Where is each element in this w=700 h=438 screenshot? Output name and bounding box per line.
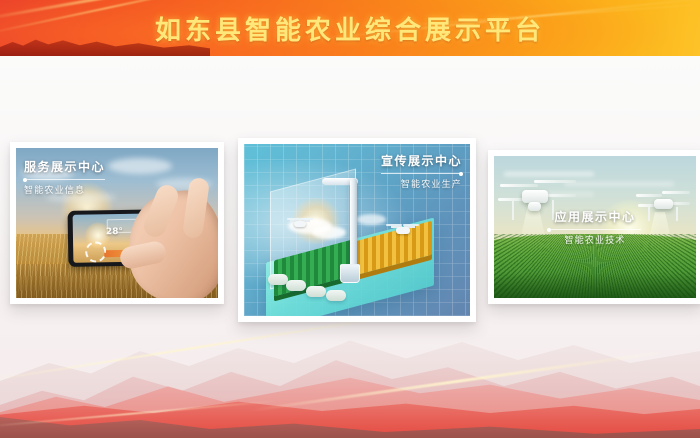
cloud bbox=[312, 226, 346, 239]
drone bbox=[286, 216, 314, 228]
application-card-subtitle: 智能农业技术 bbox=[494, 233, 696, 246]
drone-body bbox=[396, 227, 410, 234]
service-center-card[interactable]: 28° 服务展示中心 智能农业信息 bbox=[10, 142, 224, 304]
water-bucket bbox=[340, 264, 360, 283]
temperature-readout: 28° bbox=[106, 227, 123, 237]
drone-rotor bbox=[534, 180, 576, 183]
promotion-card-caption: 宣传展示中心 智能农业生产 bbox=[381, 152, 462, 190]
application-center-card[interactable]: 应用展示中心 智能农业技术 bbox=[488, 150, 700, 304]
application-card-caption: 应用展示中心 智能农业技术 bbox=[494, 208, 696, 246]
caption-divider bbox=[24, 179, 105, 180]
drone-rotor bbox=[662, 191, 690, 194]
hay-roll bbox=[306, 286, 326, 297]
crop-field-foreground bbox=[494, 272, 696, 298]
promotion-card-title: 宣传展示中心 bbox=[381, 152, 462, 169]
service-card-image: 28° 服务展示中心 智能农业信息 bbox=[16, 148, 218, 298]
cloud-streak bbox=[564, 182, 674, 186]
promotion-card-subtitle: 智能农业生产 bbox=[381, 177, 462, 190]
promotion-center-card[interactable]: 宣传展示中心 智能农业生产 bbox=[238, 138, 476, 322]
application-card-title: 应用展示中心 bbox=[494, 208, 696, 225]
caption-divider bbox=[381, 173, 462, 174]
cloud bbox=[356, 214, 386, 225]
hay-roll bbox=[286, 280, 306, 291]
hay-roll bbox=[326, 290, 346, 301]
caption-divider bbox=[549, 229, 641, 230]
cloud-streak bbox=[504, 172, 594, 176]
application-card-image: 应用展示中心 智能农业技术 bbox=[494, 156, 696, 298]
service-card-caption: 服务展示中心 智能农业信息 bbox=[24, 158, 105, 196]
gauge-ring-left bbox=[85, 241, 106, 262]
irrigation-pipe-vertical bbox=[350, 178, 357, 276]
drone-rotor bbox=[636, 194, 662, 197]
header-banner: 如东县智能农业综合展示平台 bbox=[0, 0, 700, 56]
app-root: 如东县智能农业综合展示平台 28° bbox=[0, 0, 700, 438]
service-card-title: 服务展示中心 bbox=[24, 158, 105, 175]
service-card-subtitle: 智能农业信息 bbox=[24, 183, 105, 196]
cloud bbox=[108, 158, 172, 174]
promotion-card-image: 宣传展示中心 智能农业生产 bbox=[244, 144, 470, 316]
page-title: 如东县智能农业综合展示平台 bbox=[0, 0, 700, 56]
drone bbox=[386, 222, 420, 236]
hay-roll bbox=[268, 274, 288, 285]
drone-body bbox=[294, 221, 306, 227]
drone-rotor bbox=[500, 184, 538, 187]
